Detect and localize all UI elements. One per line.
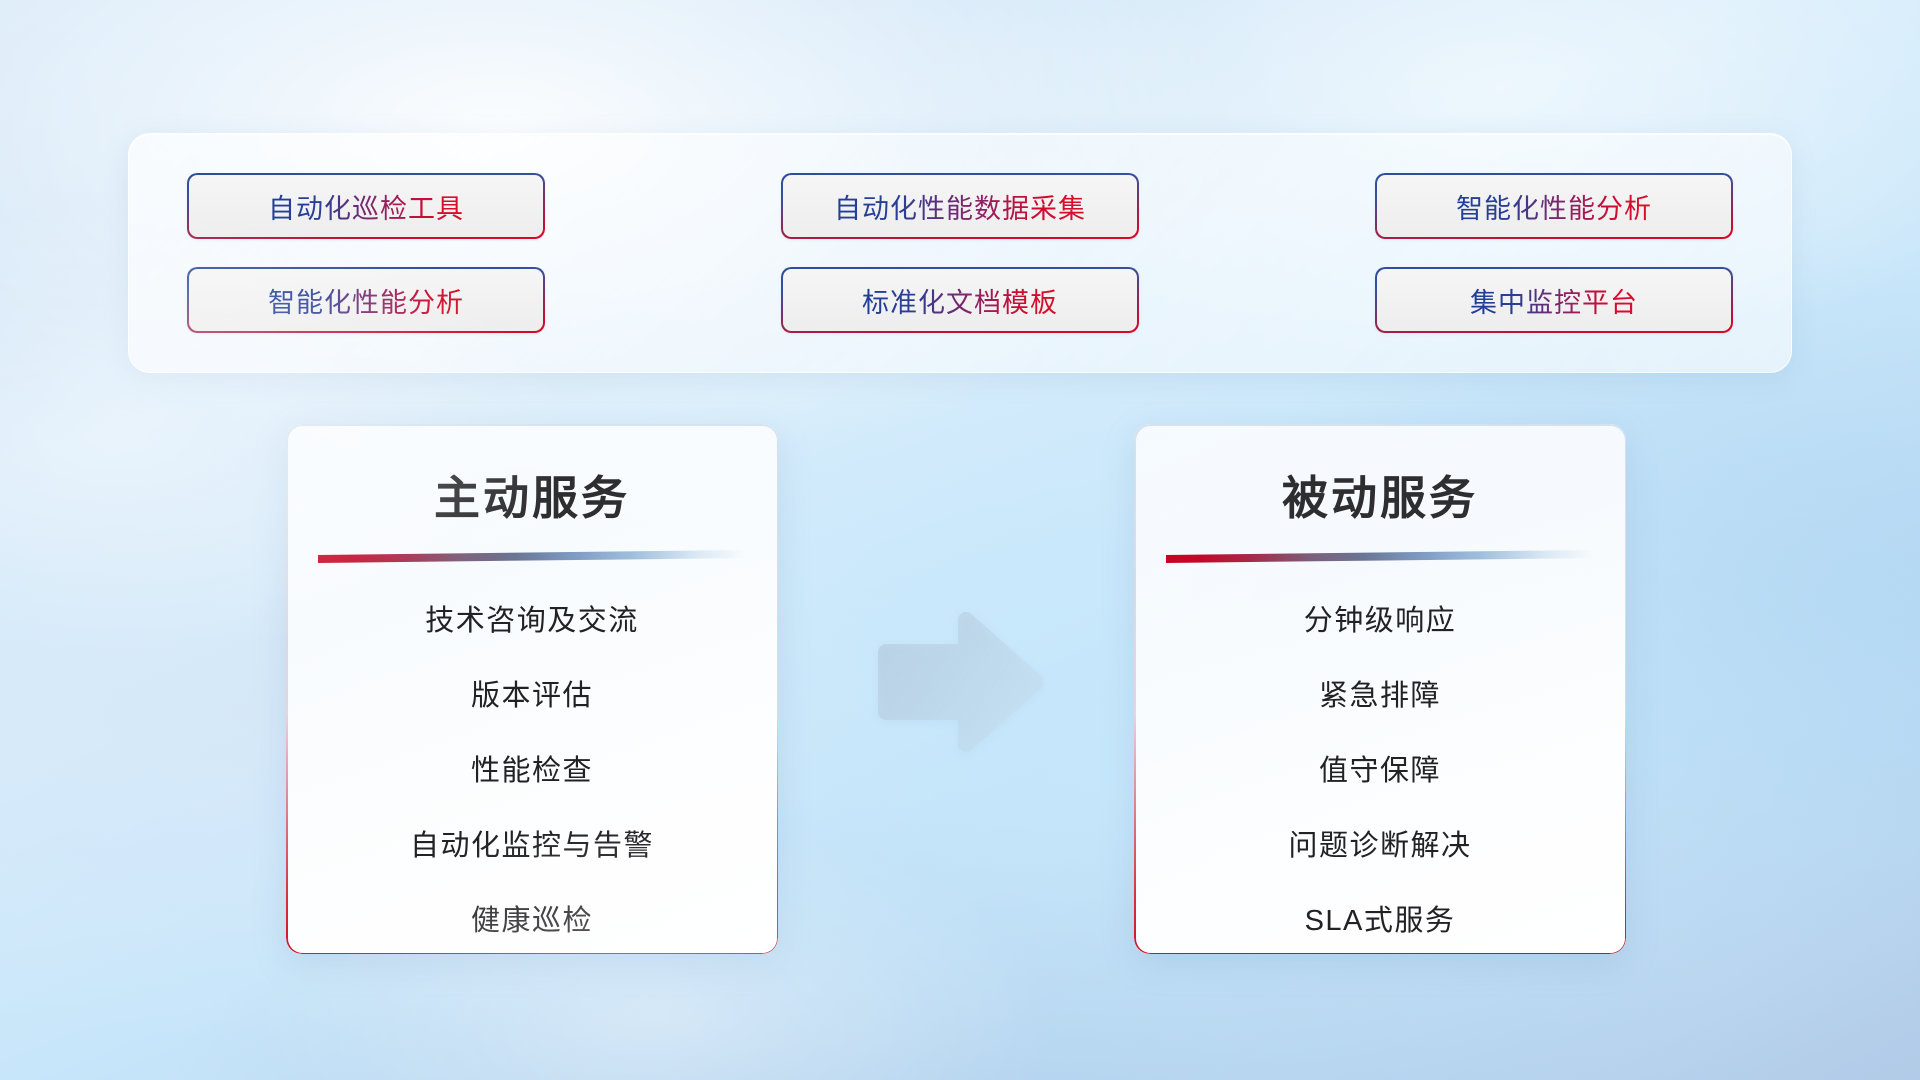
- capability-chip-label: 集中监控平台: [1470, 281, 1638, 320]
- service-item: 分钟级响应: [1304, 597, 1457, 639]
- service-item-list: 技术咨询及交流 版本评估 性能检查 自动化监控与告警 健康巡检: [286, 597, 778, 939]
- service-item: 值守保障: [1319, 747, 1441, 789]
- divider-wedge: [318, 550, 746, 563]
- service-item: 自动化监控与告警: [410, 822, 654, 864]
- service-card-proactive: 主动服务 技术咨询及交流 版本评估 性能检查 自动化监控与告警 健康巡检: [286, 424, 778, 954]
- service-item: 问题诊断解决: [1288, 822, 1471, 864]
- service-card-title: 主动服务: [286, 462, 778, 528]
- title-divider: [1166, 550, 1594, 563]
- divider-wedge: [1166, 550, 1594, 563]
- capability-chip-label: 智能化性能分析: [268, 281, 464, 320]
- capability-row-1: 自动化巡检工具 自动化性能数据采集 智能化性能分析: [187, 173, 1733, 239]
- capability-chip-automated-inspection-tool[interactable]: 自动化巡检工具: [187, 173, 545, 239]
- service-item: SLA式服务: [1305, 897, 1456, 939]
- service-card-reactive: 被动服务 分钟级响应 紧急排障 值守保障 问题诊断解决 SLA式服务: [1134, 424, 1626, 954]
- capability-chip-centralized-monitoring-platform[interactable]: 集中监控平台: [1375, 267, 1733, 333]
- arrow-right-icon: [872, 612, 1048, 752]
- service-item: 性能检查: [471, 747, 593, 789]
- service-card-title: 被动服务: [1134, 462, 1626, 528]
- service-item: 健康巡检: [471, 897, 593, 939]
- capability-chip-intelligent-performance-analysis-2[interactable]: 智能化性能分析: [187, 267, 545, 333]
- title-divider: [318, 550, 746, 563]
- capability-chip-intelligent-performance-analysis[interactable]: 智能化性能分析: [1375, 173, 1733, 239]
- capability-chip-label: 自动化性能数据采集: [834, 187, 1086, 226]
- capability-chip-label: 智能化性能分析: [1456, 187, 1652, 226]
- service-item: 技术咨询及交流: [425, 597, 639, 639]
- infographic-canvas: 自动化巡检工具 自动化性能数据采集 智能化性能分析 智能化性能分析 标准化文档模…: [0, 0, 1920, 1080]
- capability-chip-label: 自动化巡检工具: [268, 187, 464, 226]
- capability-row-2: 智能化性能分析 标准化文档模板 集中监控平台: [187, 267, 1733, 333]
- service-item: 版本评估: [471, 672, 593, 714]
- service-item: 紧急排障: [1319, 672, 1441, 714]
- capability-chip-automated-performance-data-collection[interactable]: 自动化性能数据采集: [781, 173, 1139, 239]
- capability-chip-standardized-doc-template[interactable]: 标准化文档模板: [781, 267, 1139, 333]
- capability-chip-label: 标准化文档模板: [862, 281, 1058, 320]
- capabilities-panel: 自动化巡检工具 自动化性能数据采集 智能化性能分析 智能化性能分析 标准化文档模…: [128, 133, 1792, 373]
- service-item-list: 分钟级响应 紧急排障 值守保障 问题诊断解决 SLA式服务: [1134, 597, 1626, 939]
